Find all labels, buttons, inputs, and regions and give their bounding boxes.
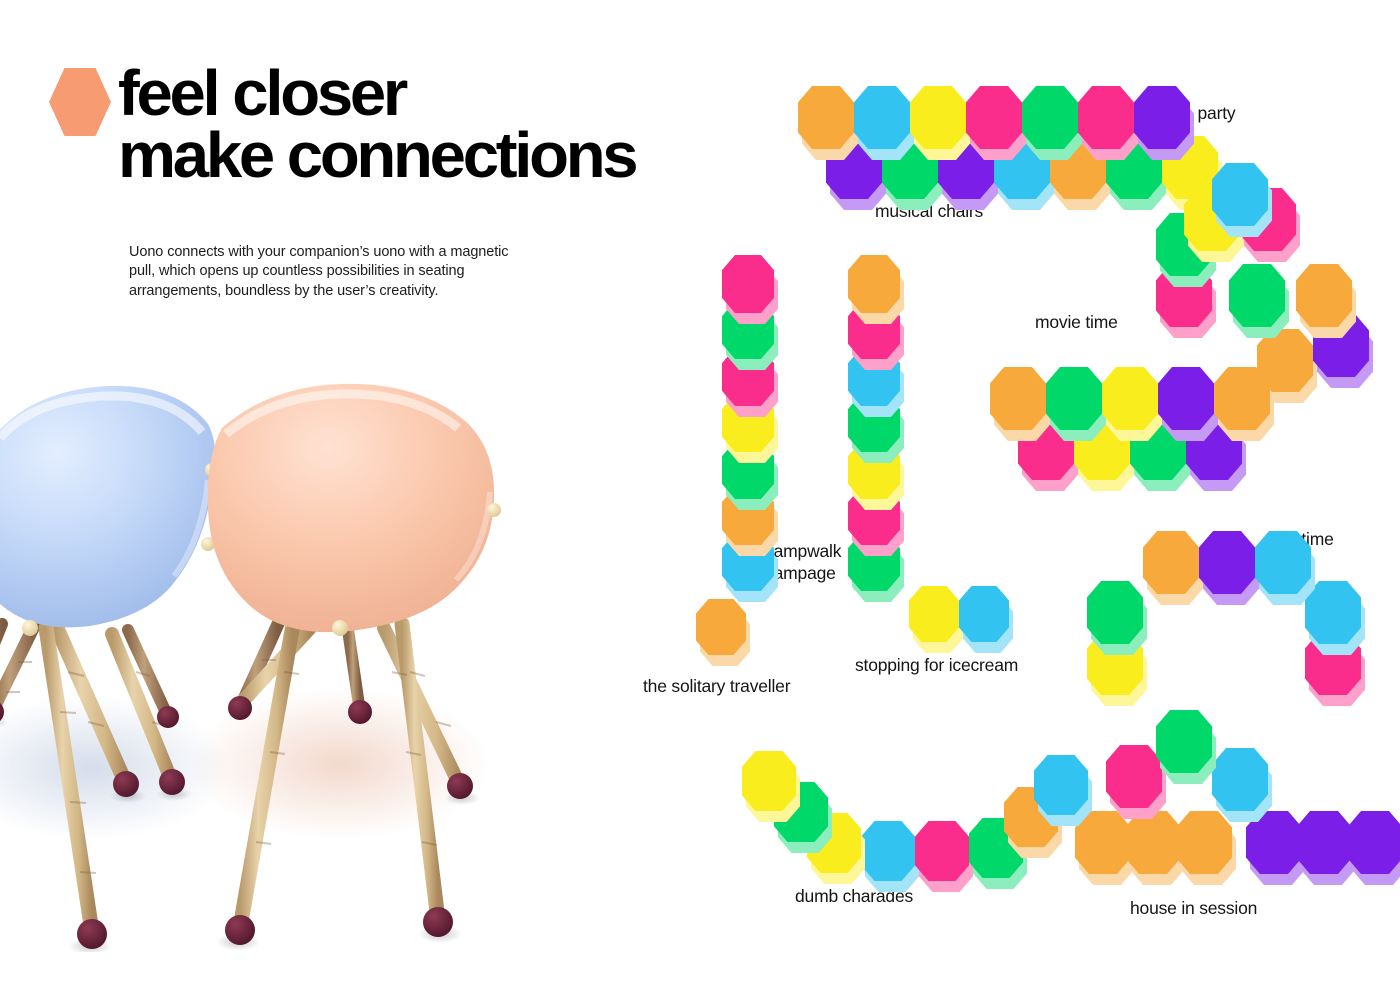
hexagon-shadow bbox=[1309, 592, 1365, 655]
hexagon-module bbox=[848, 301, 900, 373]
hexagon-module bbox=[696, 599, 746, 669]
hexagon-module bbox=[1143, 531, 1199, 608]
hexagon-module bbox=[1106, 136, 1162, 213]
hexagon-face bbox=[722, 301, 774, 359]
hexagon-face bbox=[1246, 811, 1302, 874]
hexagon-face bbox=[1034, 755, 1088, 815]
hexagon-face bbox=[1240, 188, 1296, 251]
hexagon-shadow bbox=[726, 405, 778, 463]
hexagon-face bbox=[1130, 417, 1186, 480]
hexagon-icon bbox=[49, 68, 111, 136]
cluster-label-dumb-charades: dumb charades bbox=[795, 886, 913, 908]
hexagon-shadow bbox=[1166, 147, 1222, 210]
magnet-knob bbox=[487, 503, 501, 517]
cluster-label-stopping-for-icecream: stopping for icecream bbox=[855, 655, 1018, 677]
hexagon-shadow bbox=[1351, 822, 1400, 885]
hexagon-module bbox=[1022, 86, 1078, 163]
page-title: feel closer make connections bbox=[118, 62, 812, 186]
hexagon-module bbox=[807, 813, 861, 887]
hexagon-module bbox=[1240, 188, 1296, 265]
hexagon-shadow bbox=[1250, 822, 1306, 885]
hexagon-face bbox=[1075, 811, 1131, 874]
hexagon-module bbox=[1102, 367, 1158, 444]
hexagon-face bbox=[990, 367, 1046, 430]
hexagon-shadow bbox=[852, 544, 904, 602]
hexagon-face bbox=[1199, 531, 1255, 594]
hexagon-shadow bbox=[746, 762, 800, 822]
magnet-knob bbox=[22, 620, 38, 636]
hexagon-face bbox=[1106, 136, 1162, 199]
hexagon-shadow bbox=[865, 832, 919, 892]
hexagon-face bbox=[1184, 188, 1240, 251]
hexagon-shadow bbox=[1050, 378, 1106, 441]
hexagon-module bbox=[959, 586, 1009, 656]
hexagon-face bbox=[722, 255, 774, 313]
hexagon-face bbox=[848, 301, 900, 359]
hexagon-shadow bbox=[1188, 199, 1244, 262]
hexagon-face bbox=[938, 136, 994, 199]
hexagon-shadow bbox=[1134, 428, 1190, 491]
cluster-label-musical-chairs: musical chairs bbox=[875, 201, 983, 223]
hexagon-shadow bbox=[852, 312, 904, 370]
hexagon-shadow bbox=[1300, 275, 1356, 338]
hexagon-module bbox=[1075, 811, 1131, 888]
hexagon-face bbox=[1313, 314, 1369, 377]
hexagon-face bbox=[1125, 811, 1181, 874]
hexagon-module bbox=[990, 367, 1046, 444]
hexagon-face bbox=[1257, 329, 1313, 392]
hexagon-shadow bbox=[1216, 759, 1272, 822]
intro-paragraph: Uono connects with your companion’s uono… bbox=[129, 243, 529, 301]
hexagon-face bbox=[1004, 787, 1058, 847]
hexagon-face bbox=[1158, 367, 1214, 430]
hexagon-shadow bbox=[994, 378, 1050, 441]
hexagon-module bbox=[1184, 188, 1240, 265]
blue-stool-seat bbox=[0, 386, 215, 627]
hexagon-shadow bbox=[1203, 542, 1259, 605]
hexagon-module bbox=[1158, 367, 1214, 444]
hexagon-module bbox=[1106, 745, 1162, 822]
cluster-label-house-in-session: house in session bbox=[1130, 898, 1257, 920]
hexagon-shadow bbox=[970, 97, 1026, 160]
hexagon-face bbox=[722, 348, 774, 406]
hexagon-module bbox=[1229, 264, 1285, 341]
stool-illustration-svg bbox=[0, 372, 580, 952]
hexagon-module bbox=[826, 136, 882, 213]
hexagon-shadow bbox=[1079, 822, 1135, 885]
hexagon-face bbox=[1296, 264, 1352, 327]
hexagon-face bbox=[1074, 417, 1130, 480]
hexagon-shadow bbox=[913, 597, 963, 653]
hexagon-face bbox=[1162, 136, 1218, 199]
hexagon-shadow bbox=[1261, 340, 1317, 403]
hexagon-shadow bbox=[1082, 97, 1138, 160]
hexagon-module bbox=[1078, 86, 1134, 163]
hexagon-shadow bbox=[1110, 147, 1166, 210]
hexagon-module bbox=[1046, 367, 1102, 444]
hexagon-shadow bbox=[852, 452, 904, 510]
hexagon-face bbox=[1305, 632, 1361, 695]
hexagon-icon-shape bbox=[49, 68, 111, 136]
hexagon-face bbox=[1018, 417, 1074, 480]
hexagon-face bbox=[1102, 367, 1158, 430]
hexagon-module bbox=[966, 86, 1022, 163]
hexagon-shadow bbox=[914, 97, 970, 160]
hexagon-shadow bbox=[726, 359, 778, 417]
hexagon-shadow bbox=[858, 97, 914, 160]
magnet-knob bbox=[332, 620, 348, 636]
hexagon-face bbox=[1212, 163, 1268, 226]
hexagon-module bbox=[909, 586, 959, 656]
hexagon-face bbox=[848, 255, 900, 313]
hexagon-module bbox=[848, 348, 900, 420]
hexagon-face bbox=[1143, 531, 1199, 594]
hexagon-module bbox=[722, 348, 774, 420]
hexagon-face bbox=[1347, 811, 1400, 874]
hexagon-face bbox=[1156, 213, 1212, 276]
hexagon-shadow bbox=[1317, 325, 1373, 388]
hexagon-face bbox=[1214, 367, 1270, 430]
hexagon-module bbox=[1176, 811, 1232, 888]
hexagon-face bbox=[774, 782, 828, 842]
hexagon-shadow bbox=[726, 266, 778, 324]
hexagon-face bbox=[969, 818, 1023, 878]
hexagon-module bbox=[848, 255, 900, 327]
hexagon-face bbox=[1212, 748, 1268, 811]
hexagon-module bbox=[910, 86, 966, 163]
hexagon-module bbox=[848, 441, 900, 513]
hexagon-face bbox=[959, 586, 1009, 642]
hexagon-face bbox=[1296, 811, 1352, 874]
hexagon-face bbox=[848, 394, 900, 452]
hexagon-module bbox=[722, 255, 774, 327]
hexagon-shadow bbox=[1106, 378, 1162, 441]
hexagon-face bbox=[1050, 136, 1106, 199]
hexagon-face bbox=[848, 533, 900, 591]
hexagon-module bbox=[1212, 748, 1268, 825]
hexagon-shadow bbox=[852, 405, 904, 463]
hexagon-shadow bbox=[1180, 822, 1236, 885]
hexagon-shadow bbox=[1054, 147, 1110, 210]
hexagon-face bbox=[1156, 710, 1212, 773]
hexagon-module bbox=[722, 301, 774, 373]
hexagon-module bbox=[1212, 163, 1268, 240]
hexagon-face bbox=[994, 136, 1050, 199]
hexagon-shadow bbox=[919, 832, 973, 892]
hexagon-face bbox=[742, 751, 796, 811]
hexagon-module bbox=[722, 394, 774, 466]
cluster-label-the-solitary-traveller: the solitary traveller bbox=[643, 676, 790, 698]
hexagon-module bbox=[1004, 787, 1058, 861]
hexagon-face bbox=[722, 394, 774, 452]
hexagon-module bbox=[1347, 811, 1400, 888]
hexagon-module bbox=[1034, 755, 1088, 829]
hexagon-face bbox=[909, 586, 959, 642]
hexagon-shadow bbox=[963, 597, 1013, 653]
hexagon-face bbox=[807, 813, 861, 873]
hexagon-face bbox=[882, 136, 938, 199]
hexagon-face bbox=[1087, 632, 1143, 695]
hexagon-module bbox=[1125, 811, 1181, 888]
hexagon-face bbox=[1087, 581, 1143, 644]
hexagon-module bbox=[1156, 264, 1212, 341]
hexagon-module bbox=[1296, 811, 1352, 888]
hexagon-shadow bbox=[726, 452, 778, 510]
hexagon-module bbox=[1257, 329, 1313, 406]
hexagon-face bbox=[722, 441, 774, 499]
hexagon-shadow bbox=[1160, 224, 1216, 287]
cluster-label-movie-time: movie time bbox=[1035, 312, 1118, 334]
hexagon-module bbox=[1186, 417, 1242, 494]
hexagon-shadow bbox=[1160, 721, 1216, 784]
hexagon-shadow bbox=[973, 829, 1027, 889]
cluster-label-tea-time: tea time bbox=[1273, 529, 1334, 551]
hexagon-face bbox=[848, 348, 900, 406]
hexagon-module bbox=[774, 782, 828, 856]
hexagon-module bbox=[722, 533, 774, 605]
hexagon-module bbox=[722, 441, 774, 513]
hexagon-shadow bbox=[1147, 542, 1203, 605]
hexagon-module bbox=[722, 487, 774, 559]
hexagon-module bbox=[1156, 710, 1212, 787]
hexagon-module bbox=[1087, 632, 1143, 709]
cluster-label-pizza-party: pizza party bbox=[1153, 103, 1235, 125]
hexagon-face bbox=[1176, 811, 1232, 874]
hexagon-shadow bbox=[1038, 766, 1092, 826]
hexagon-shadow bbox=[852, 266, 904, 324]
hexagon-shadow bbox=[1160, 275, 1216, 338]
hexagon-module bbox=[848, 533, 900, 605]
poster-canvas: feel closer make connections Uono connec… bbox=[0, 0, 1400, 990]
hexagon-shadow bbox=[1129, 822, 1185, 885]
hexagon-module bbox=[915, 821, 969, 895]
hexagon-shadow bbox=[852, 359, 904, 417]
hexagon-shadow bbox=[1026, 97, 1082, 160]
hexagon-module bbox=[1074, 417, 1130, 494]
hexagon-face bbox=[861, 821, 915, 881]
hexagon-face bbox=[1186, 417, 1242, 480]
cluster-label-rampwalk-rampage-left: rampwalk rampage bbox=[768, 541, 841, 585]
hexagon-face bbox=[696, 599, 746, 655]
hexagon-shadow bbox=[998, 147, 1054, 210]
hexagon-face bbox=[910, 86, 966, 149]
hexagon-module bbox=[1246, 811, 1302, 888]
hexagon-module bbox=[1130, 417, 1186, 494]
hexagon-module bbox=[861, 821, 915, 895]
hexagon-shadow bbox=[1218, 378, 1274, 441]
hexagon-module bbox=[848, 394, 900, 466]
hexagon-module bbox=[994, 136, 1050, 213]
hexagon-module bbox=[1087, 581, 1143, 658]
hexagon-module bbox=[1050, 136, 1106, 213]
hexagon-face bbox=[1305, 581, 1361, 644]
hexagon-face bbox=[1078, 86, 1134, 149]
hexagon-module bbox=[1305, 581, 1361, 658]
hexagon-shadow bbox=[1091, 643, 1147, 706]
hexagon-module bbox=[848, 487, 900, 559]
headline-line-2: make connections bbox=[118, 124, 812, 186]
hexagon-shadow bbox=[1259, 542, 1315, 605]
hexagon-module bbox=[969, 818, 1023, 892]
hexagon-shadow bbox=[1008, 798, 1062, 858]
hexagon-shadow bbox=[1244, 199, 1300, 262]
hexagon-shadow bbox=[700, 610, 750, 666]
orange-stool-seat bbox=[208, 384, 494, 632]
hexagon-shadow bbox=[1233, 275, 1289, 338]
hexagon-face bbox=[1229, 264, 1285, 327]
hexagon-face bbox=[1156, 264, 1212, 327]
hexagon-module bbox=[1162, 136, 1218, 213]
hexagon-face bbox=[1022, 86, 1078, 149]
hexagon-shadow bbox=[778, 793, 832, 853]
hexagon-module bbox=[1018, 417, 1074, 494]
hexagon-face bbox=[1106, 745, 1162, 808]
hexagon-face bbox=[722, 487, 774, 545]
hexagon-shadow bbox=[852, 498, 904, 556]
hexagon-module bbox=[1305, 632, 1361, 709]
hexagon-module bbox=[1214, 367, 1270, 444]
hexagon-shadow bbox=[1309, 643, 1365, 706]
hexagon-shadow bbox=[1091, 592, 1147, 655]
hexagon-module bbox=[1296, 264, 1352, 341]
two-uono-stools-illustration bbox=[0, 372, 580, 952]
hexagon-face bbox=[848, 441, 900, 499]
hexagon-face bbox=[722, 533, 774, 591]
hexagon-face bbox=[826, 136, 882, 199]
hexagon-face bbox=[1046, 367, 1102, 430]
hexagon-module bbox=[854, 86, 910, 163]
hexagon-module bbox=[1156, 213, 1212, 290]
hexagon-face bbox=[848, 487, 900, 545]
hexagon-module bbox=[1199, 531, 1255, 608]
hexagon-face bbox=[915, 821, 969, 881]
hexagon-face bbox=[966, 86, 1022, 149]
hexagon-shadow bbox=[726, 312, 778, 370]
hexagon-face bbox=[854, 86, 910, 149]
hexagon-shadow bbox=[811, 824, 865, 884]
hexagon-shadow bbox=[1110, 756, 1166, 819]
hexagon-shadow bbox=[1190, 428, 1246, 491]
hexagon-shadow bbox=[1162, 378, 1218, 441]
hexagon-module bbox=[1313, 314, 1369, 391]
hexagon-shadow bbox=[1300, 822, 1356, 885]
hexagon-shadow bbox=[1078, 428, 1134, 491]
hexagon-shadow bbox=[1216, 174, 1272, 237]
hexagon-module bbox=[742, 751, 796, 825]
hexagon-shadow bbox=[1022, 428, 1078, 491]
